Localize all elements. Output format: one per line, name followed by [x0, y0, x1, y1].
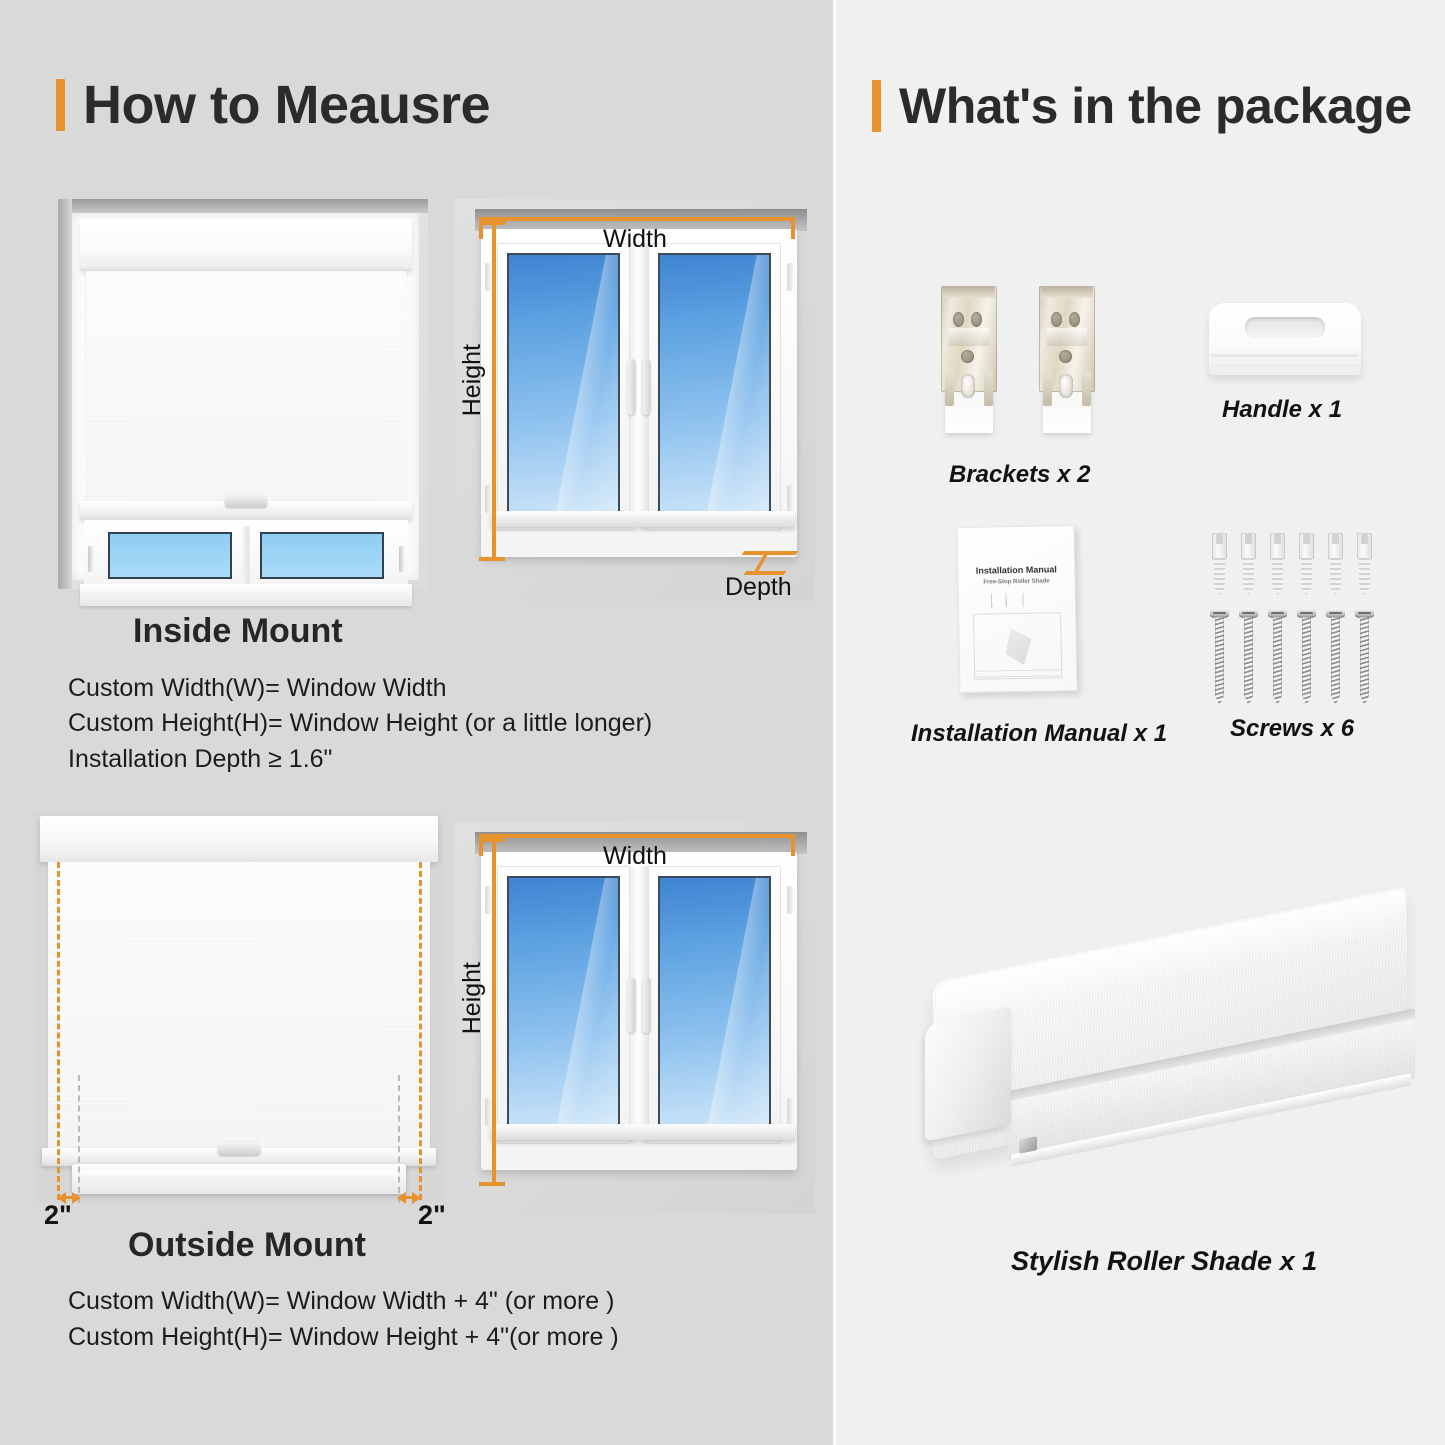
outside-mount-line-2: Custom Height(H)= Window Height + 4"(or …	[68, 1321, 619, 1355]
depth-measure-mark	[743, 549, 803, 575]
accent-bar-icon	[872, 80, 881, 132]
overhang-left-label: 2"	[44, 1200, 72, 1231]
width-measure-cap-right	[791, 217, 795, 239]
window-hinge-right-icon	[399, 546, 404, 572]
outside-mount-shade-illustration	[34, 812, 444, 1202]
overhang-right-label: 2"	[418, 1200, 446, 1231]
height-measure-cap-top	[479, 838, 505, 842]
window-glass-left	[507, 876, 620, 1134]
window-hinge-bottom-right-icon	[787, 1098, 793, 1126]
shade-fabric	[86, 271, 406, 507]
window-sill-ledge	[491, 511, 795, 527]
shade-bottom-rail	[80, 501, 412, 520]
window-sash-left	[497, 243, 630, 531]
window-sill	[80, 584, 412, 606]
outside-mount-line-1: Custom Width(W)= Window Width + 4" (or m…	[68, 1285, 614, 1319]
package-title: What's in the package	[899, 81, 1412, 131]
outside-mount-measure-diagram: Width Height	[455, 822, 815, 1214]
height-label: Height	[458, 962, 487, 1034]
package-contents-panel: What's in the package	[835, 0, 1445, 1445]
how-to-measure-panel: How to Meausre	[0, 0, 835, 1445]
infographic-page: How to Meausre	[0, 0, 1445, 1445]
window-handles-icon	[628, 977, 651, 1033]
outside-shade-pull-handle-icon	[218, 1142, 260, 1155]
height-measure-line	[492, 221, 496, 561]
height-measure-cap-top	[479, 221, 505, 225]
inside-mount-line-1: Custom Width(W)= Window Width	[68, 672, 447, 706]
outside-mount-title: Outside Mount	[128, 1226, 366, 1265]
window-frame	[481, 229, 797, 557]
width-label: Width	[603, 225, 667, 254]
window-hinge-bottom-left-icon	[485, 1098, 491, 1126]
window-hinge-top-right-icon	[787, 886, 793, 914]
window-pane-left	[108, 532, 232, 579]
outside-window-sill-inner	[80, 1170, 398, 1181]
window-sashes	[497, 866, 781, 1144]
height-measure-cap-bottom	[479, 1182, 505, 1186]
window-sash-right	[648, 866, 781, 1144]
height-measure-cap-bottom	[479, 557, 505, 561]
outside-shade-headrail	[40, 816, 438, 862]
window-hinge-top-left-icon	[485, 886, 491, 914]
height-measure-line	[492, 838, 496, 1186]
width-label: Width	[603, 842, 667, 871]
window-sashes	[497, 243, 781, 531]
window-handle-right-icon	[643, 359, 651, 415]
overhang-guide-right	[419, 862, 422, 1200]
width-measure-line	[479, 217, 795, 221]
window-frame	[481, 852, 797, 1170]
how-to-measure-heading: How to Meausre	[56, 78, 490, 132]
package-heading: What's in the package	[872, 80, 1412, 132]
shade-pull-handle-icon	[225, 494, 267, 507]
window-sill-ledge	[491, 1124, 795, 1140]
window-sash-left	[497, 866, 630, 1144]
window-hinge-top-left-icon	[485, 263, 491, 291]
panel-divider	[833, 0, 836, 1445]
shade-headrail	[80, 219, 412, 271]
window-sash-right	[648, 243, 781, 531]
window-visible-strip	[84, 520, 408, 606]
window-edge-guide-right	[398, 1075, 400, 1203]
width-measure-line	[479, 834, 795, 838]
window-hinge-left-icon	[88, 546, 93, 572]
window-hinge-bottom-right-icon	[787, 485, 793, 513]
window-edge-guide-left	[78, 1075, 80, 1203]
window-glass-right	[658, 253, 771, 521]
inside-mount-title: Inside Mount	[133, 612, 343, 651]
window-handle-right-icon	[643, 977, 651, 1033]
window-glass-right	[658, 876, 771, 1134]
window-pane-right	[260, 532, 384, 579]
how-to-measure-title: How to Meausre	[83, 78, 490, 132]
window-handle-left-icon	[628, 977, 636, 1033]
window-hinge-top-right-icon	[787, 263, 793, 291]
height-label: Height	[458, 344, 487, 416]
window-hinge-bottom-left-icon	[485, 485, 491, 513]
outside-shade-fabric	[48, 862, 430, 1152]
window-glass-left	[507, 253, 620, 521]
inside-mount-measure-diagram: Width Height Depth	[455, 199, 815, 601]
accent-bar-icon	[56, 79, 65, 131]
inside-mount-line-3: Installation Depth ≥ 1.6"	[68, 743, 332, 777]
window-handles-icon	[628, 359, 651, 415]
depth-label: Depth	[725, 573, 792, 602]
overhang-guide-left	[57, 862, 60, 1200]
inside-mount-shade-illustration	[58, 199, 428, 589]
width-measure-cap-right	[791, 834, 795, 856]
inside-mount-line-2: Custom Height(H)= Window Height (or a li…	[68, 707, 652, 741]
window-handle-left-icon	[628, 359, 636, 415]
